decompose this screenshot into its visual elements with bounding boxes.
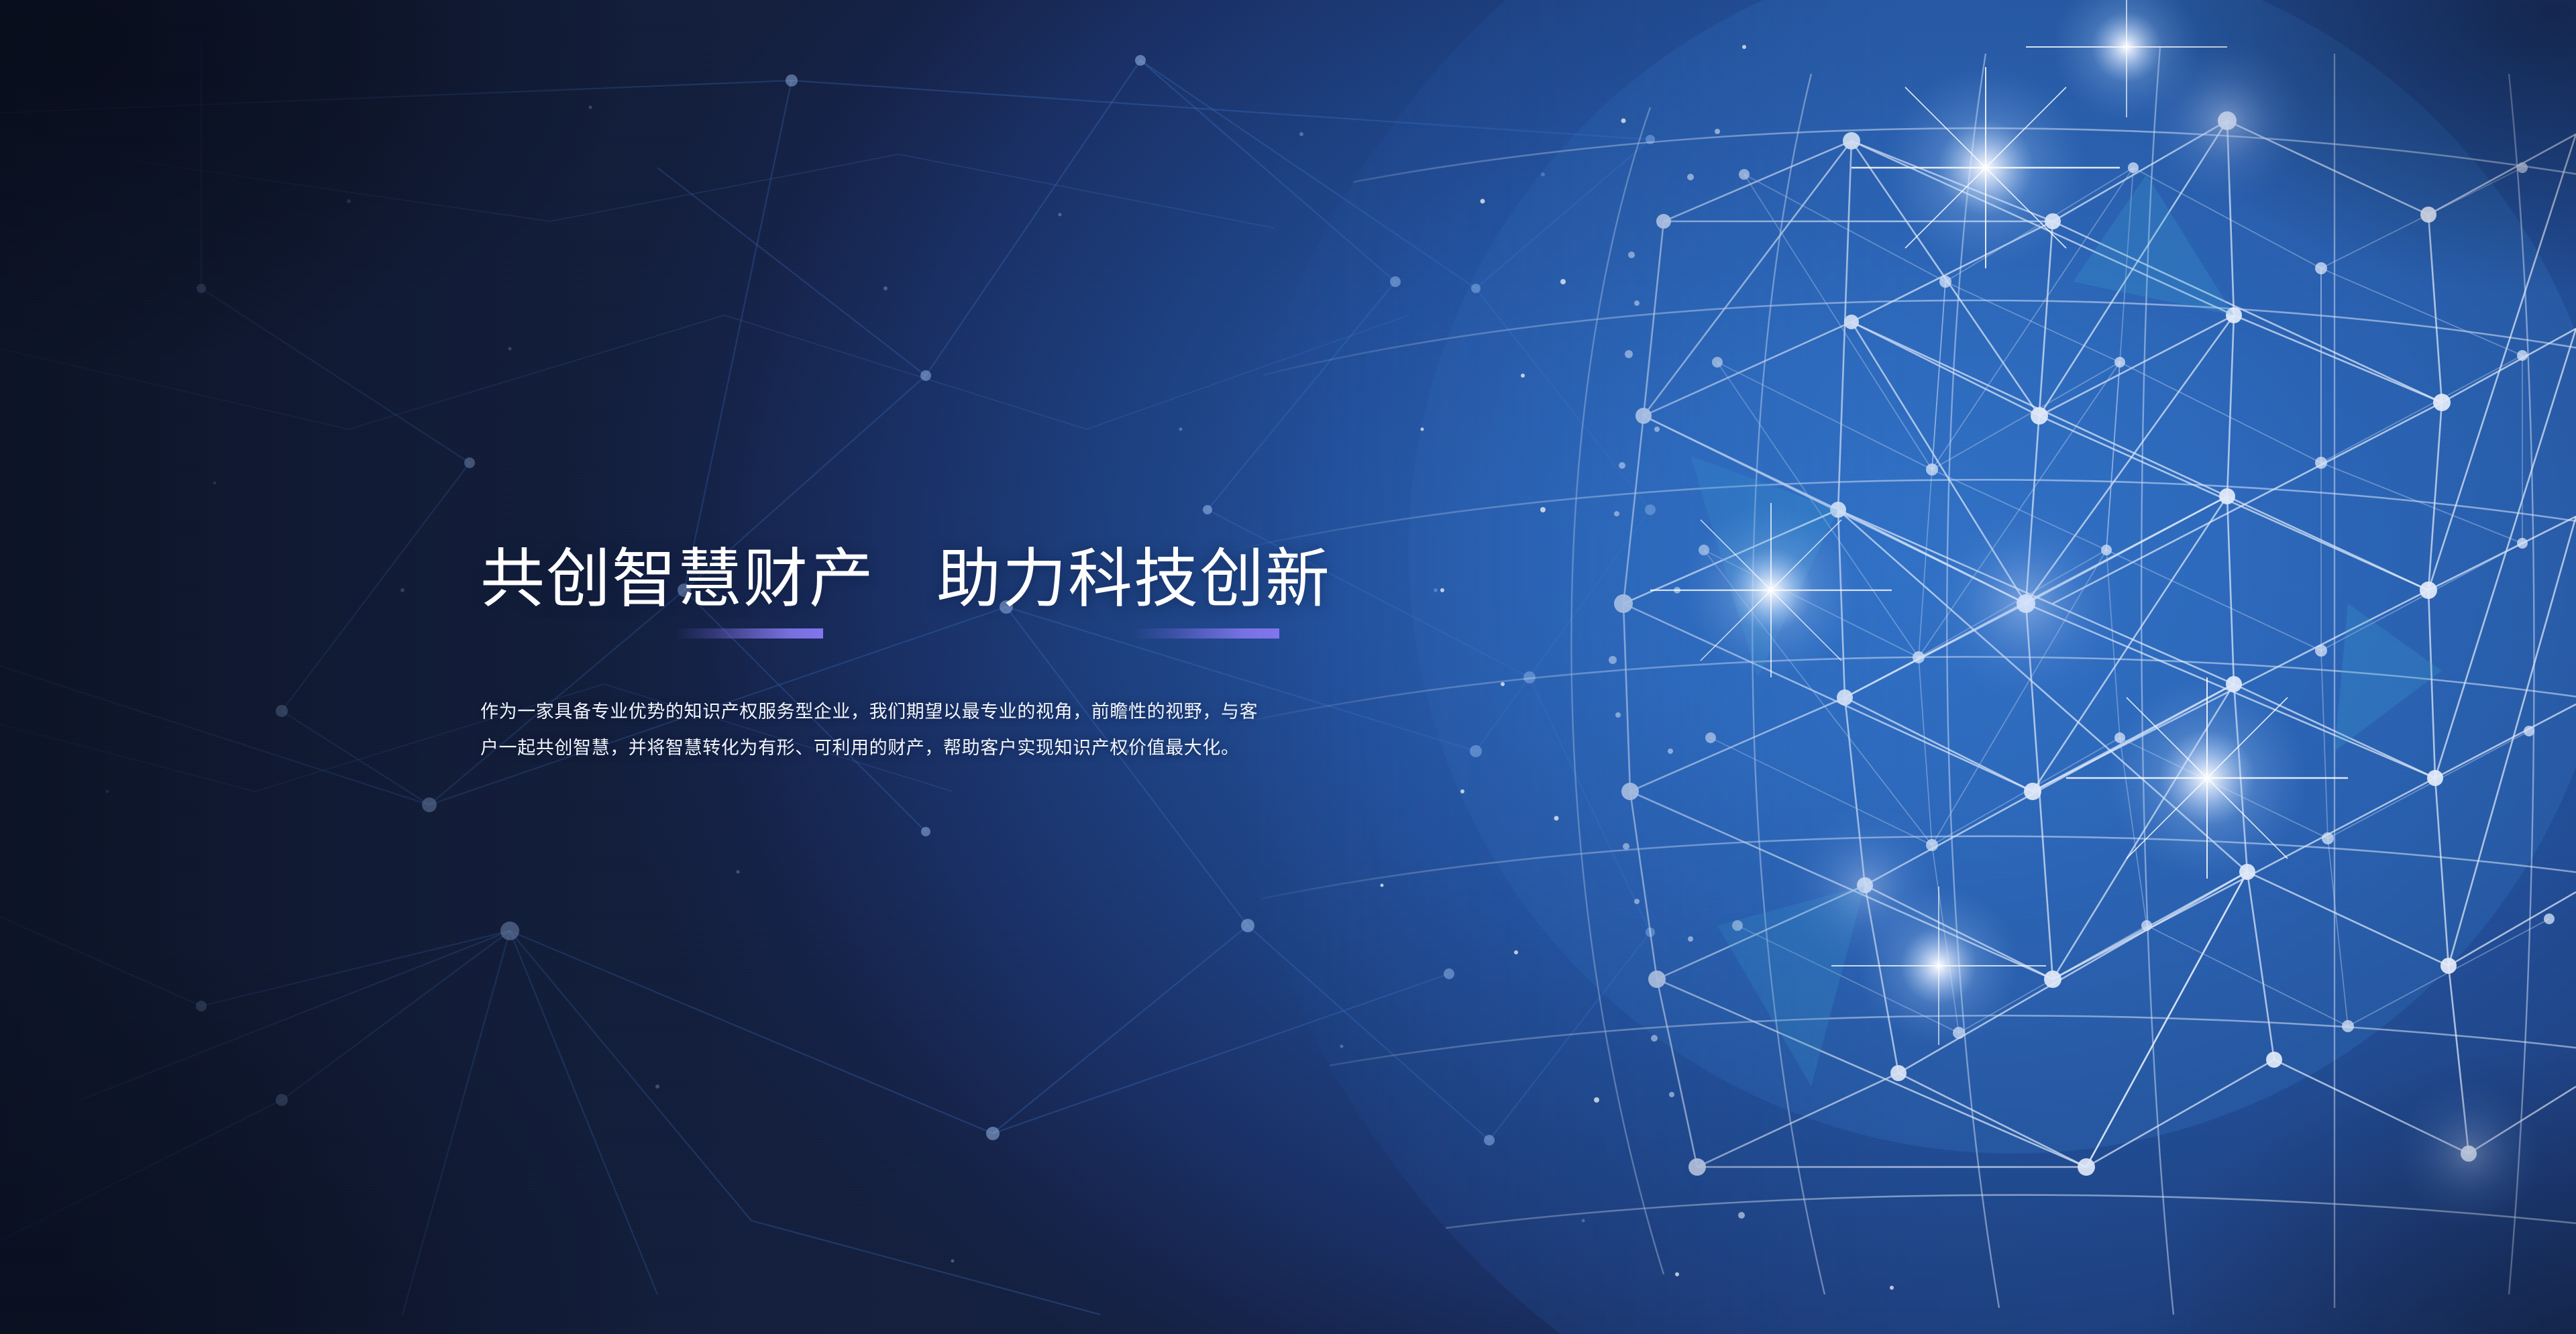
hero-banner: 共创智慧财产 助力科技创新 作为一家具备专业优势的知识产权服务型企业，我们期望以… bbox=[0, 0, 2576, 1334]
headline-segment-2-text: 助力科技创新 bbox=[936, 543, 1331, 615]
hero-description: 作为一家具备专业优势的知识产权服务型企业，我们期望以最专业的视角，前瞻性的视野，… bbox=[480, 693, 1258, 766]
headline-segment-1-text: 共创智慧财产 bbox=[480, 543, 875, 615]
accent-bar-2 bbox=[1134, 628, 1279, 638]
hero-copy-block: 共创智慧财产 助力科技创新 作为一家具备专业优势的知识产权服务型企业，我们期望以… bbox=[480, 545, 1487, 784]
accent-bar-1 bbox=[678, 628, 823, 638]
page-title: 共创智慧财产 助力科技创新 bbox=[480, 545, 1487, 614]
headline-segment-2: 助力科技创新 bbox=[936, 545, 1331, 614]
headline-segment-1: 共创智慧财产 bbox=[480, 545, 875, 614]
